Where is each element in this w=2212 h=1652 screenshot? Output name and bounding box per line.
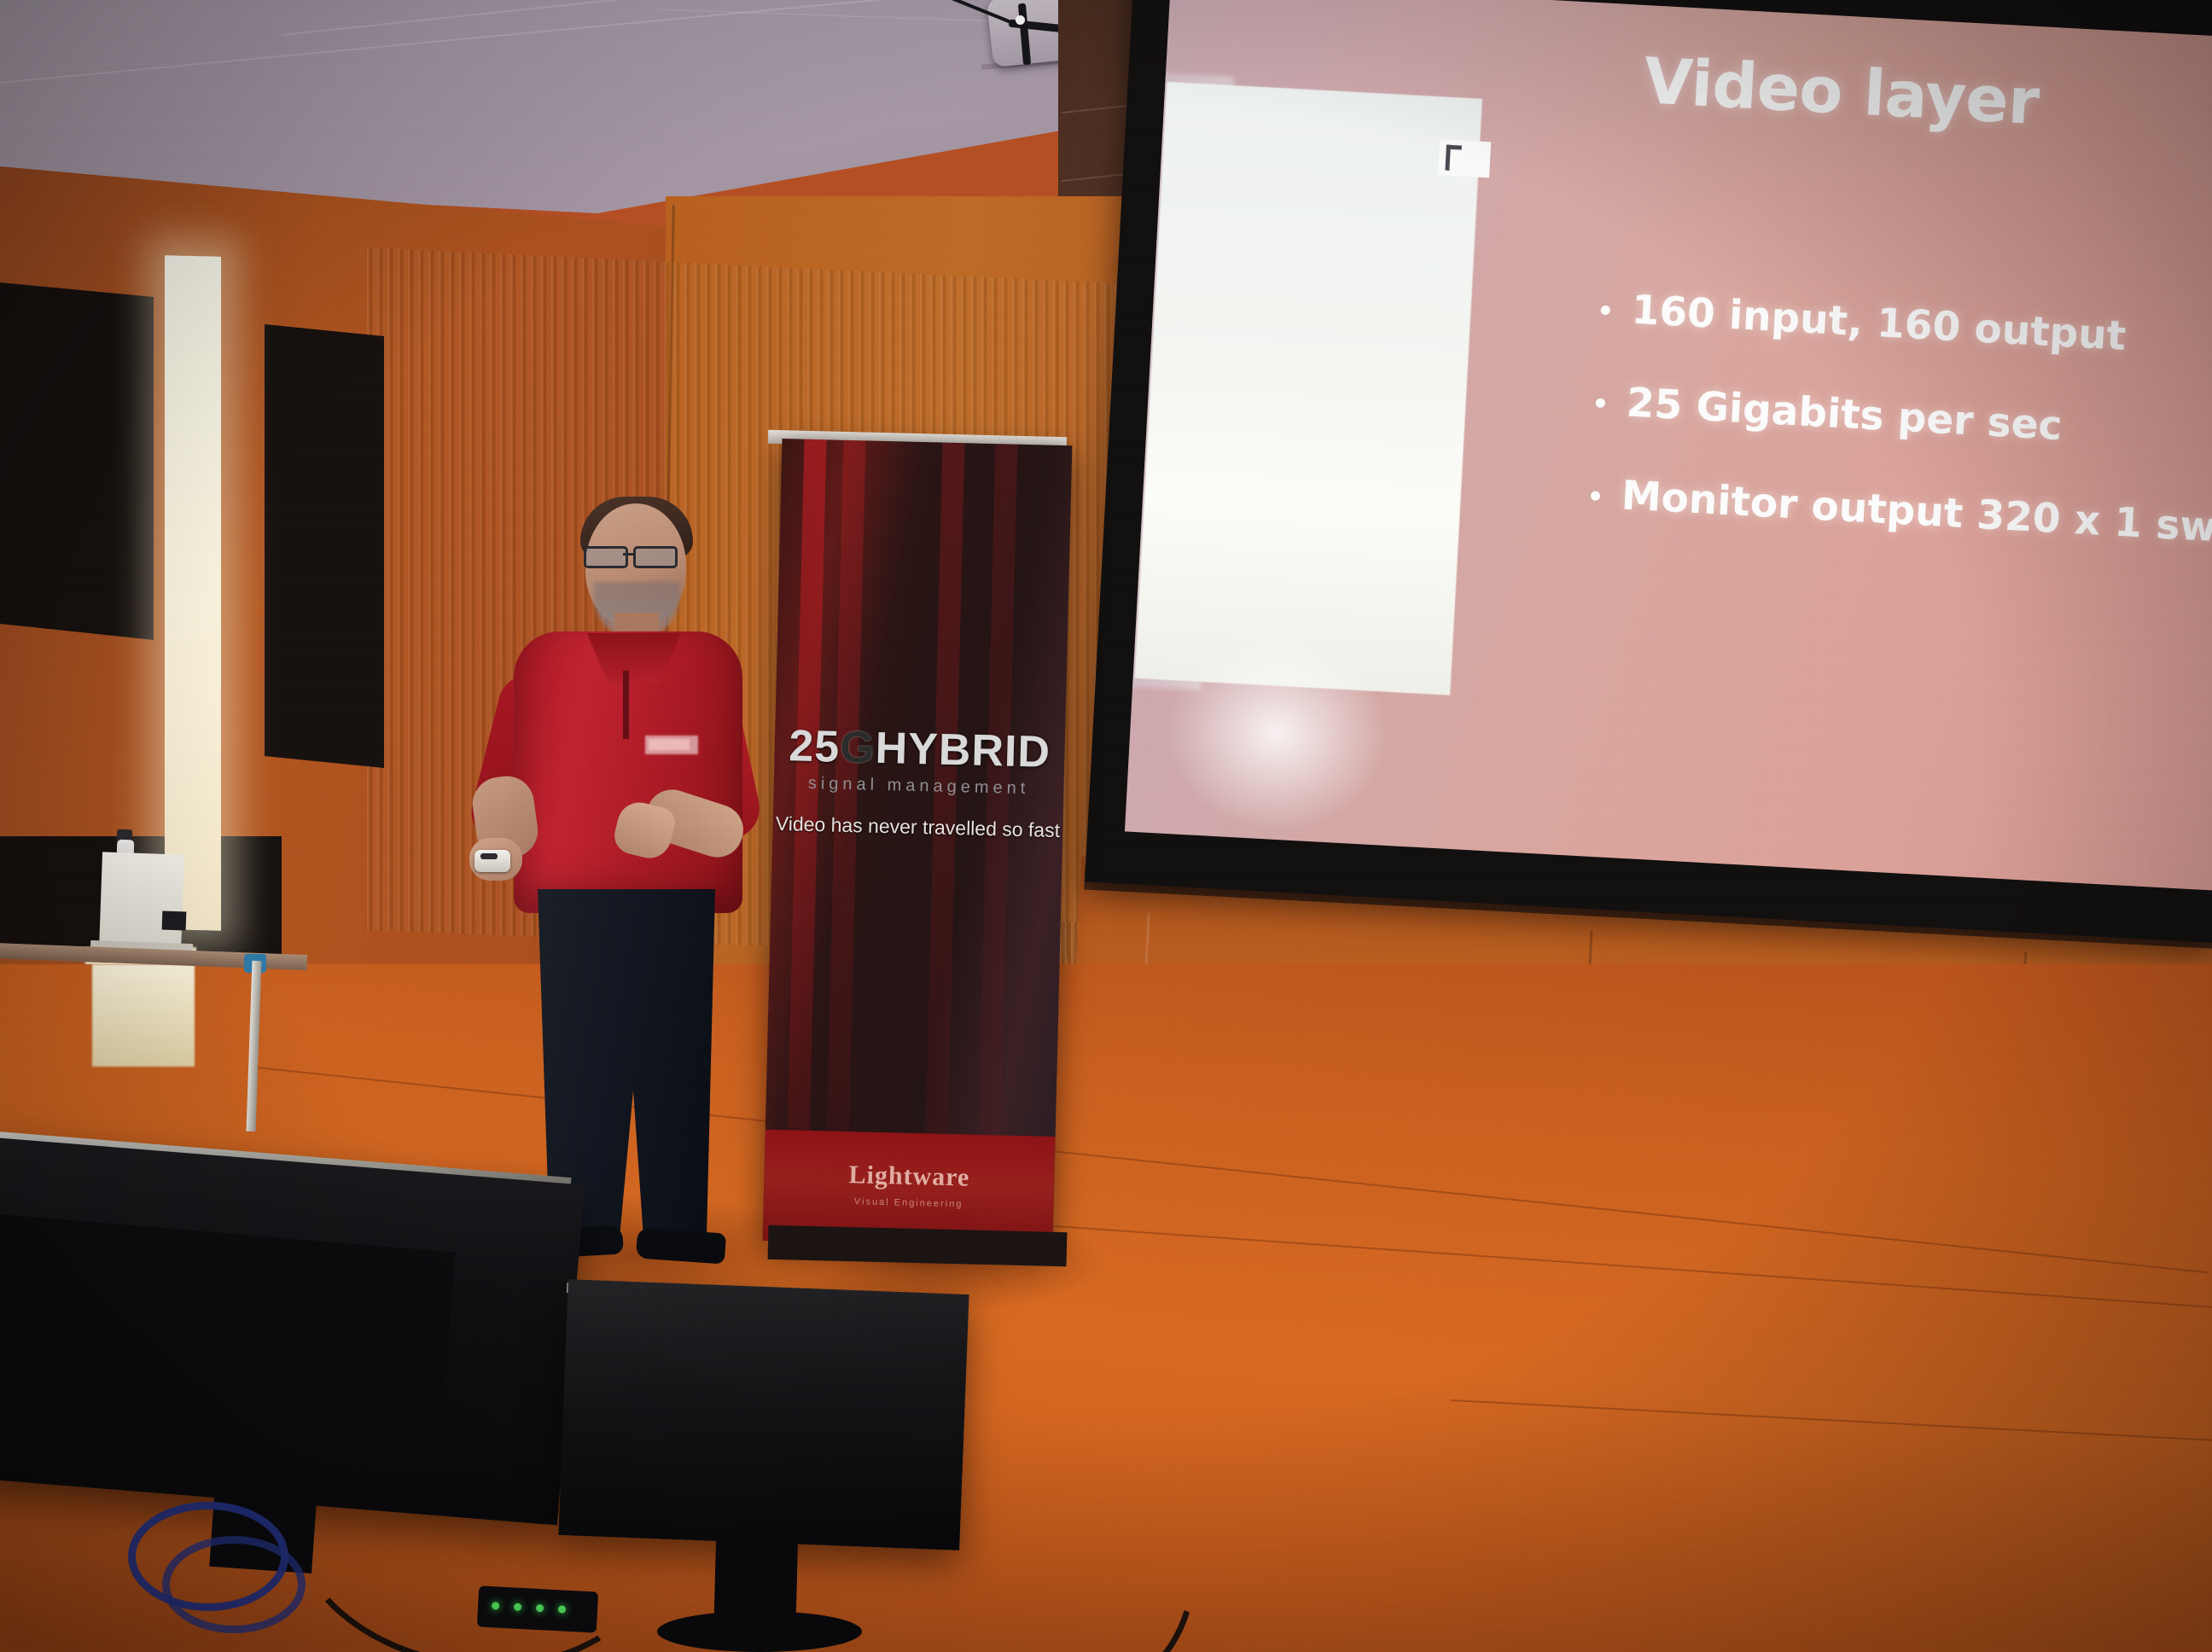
slide-bullet-list: 160 input, 160 output 25 Gigabits per se… — [1584, 284, 2212, 601]
slide-bullet-item: 160 input, 160 output — [1596, 284, 2212, 369]
presentation-clicker — [474, 850, 510, 872]
slide-bullet-item: Monitor output 320 x 1 swit — [1586, 470, 2212, 555]
presentation-room-photo: Video layer 160 input, 160 output 25 Gig… — [0, 0, 2212, 1652]
banner-headline: 25GHYBRID — [774, 720, 1065, 778]
banner-headline-prefix: 25 — [789, 721, 841, 771]
slide-bullet-item: 25 Gigabits per sec — [1592, 377, 2212, 462]
slide-title: Video layer — [1642, 44, 2041, 139]
acoustic-panel — [265, 324, 384, 768]
wall-light-strip — [165, 255, 221, 930]
banner-brand-subtitle: Visual Engineering — [764, 1195, 1054, 1212]
banner-headline-g: G — [840, 723, 876, 773]
document-glyph-icon — [1438, 139, 1491, 177]
shirt-logo — [645, 736, 698, 754]
projector-hotspot — [1161, 629, 1393, 837]
rollup-banner: 25GHYBRID signal management Video has ne… — [763, 439, 1073, 1248]
banner-base — [768, 1225, 1068, 1267]
glasses-icon — [584, 546, 686, 563]
banner-headline-suffix: HYBRID — [875, 724, 1051, 777]
banner-brand-name: Lightware — [764, 1159, 1055, 1195]
desk-device — [162, 911, 187, 931]
coiled-blue-cable — [162, 1536, 306, 1633]
projection-screen: Video layer 160 input, 160 output 25 Gig… — [1125, 0, 2212, 891]
presenter-shirt-placket — [623, 671, 629, 739]
under-table-light — [92, 964, 195, 1067]
presenter — [478, 503, 768, 1288]
slide-image-placeholder — [1135, 82, 1482, 695]
laptop-screen — [99, 852, 184, 953]
ceiling-sensor-led — [1016, 15, 1025, 25]
acoustic-panel — [0, 282, 154, 640]
presenter-shoe — [636, 1227, 726, 1264]
